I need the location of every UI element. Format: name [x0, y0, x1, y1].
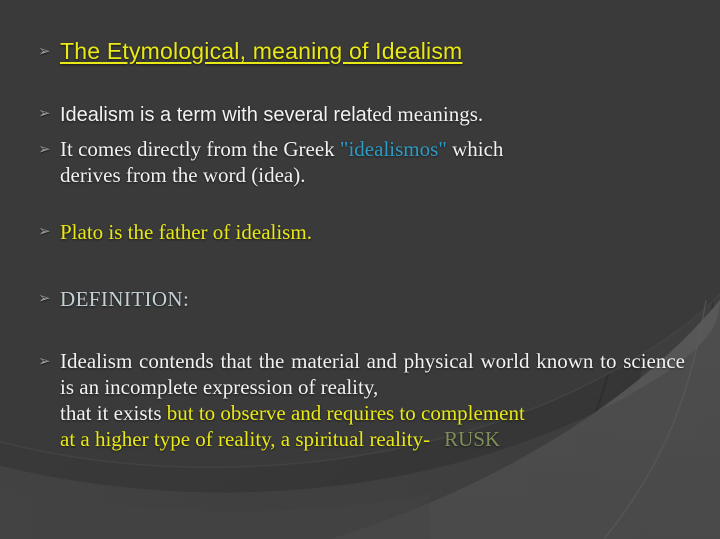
rusk-line-4-yellow: at a higher type of reality, a spiritual…	[60, 427, 430, 451]
arrow-bullet-icon: ➢	[38, 106, 60, 121]
rusk-line-3-yellow: but to observe and requires to complemen…	[167, 401, 525, 425]
page-title: The Etymological, meaning of Idealism	[60, 36, 690, 66]
bullet-definition-short: ➢ Idealism is a term with several relate…	[0, 100, 690, 129]
definition-heading: DEFINITION:	[60, 285, 690, 313]
bullet-title: ➢ The Etymological, meaning of Idealism	[0, 36, 690, 66]
bullet-text-rusk-definition: Idealism contends that the material and …	[60, 348, 685, 452]
rusk-line-1: Idealism contends that the material and …	[60, 349, 529, 373]
arrow-bullet-icon: ➢	[38, 44, 60, 59]
term-text-sans-part: Idealism is a term with several relat	[60, 104, 372, 126]
bullet-definition-heading: ➢ DEFINITION:	[0, 285, 690, 313]
greek-term: "idealismos"	[340, 137, 447, 161]
term-text-serif-part: ed meanings.	[372, 102, 483, 126]
bullet-text-plato: Plato is the father of idealism.	[60, 218, 690, 246]
slide-content-body: ➢ The Etymological, meaning of Idealism …	[0, 0, 720, 539]
arrow-bullet-icon: ➢	[38, 142, 60, 157]
arrow-bullet-icon: ➢	[38, 354, 60, 369]
rusk-attribution: RUSK	[430, 427, 500, 451]
rusk-line-4: at a higher type of reality, a spiritual…	[60, 426, 685, 452]
presentation-slide: ➢ The Etymological, meaning of Idealism …	[0, 0, 720, 539]
bullet-text-greek-origin: It comes directly from the Greek "ideali…	[60, 136, 680, 188]
bullet-greek-origin: ➢ It comes directly from the Greek "idea…	[0, 136, 680, 188]
bullet-text-term-meanings: Idealism is a term with several related …	[60, 100, 690, 129]
rusk-line-3-white: that it exists	[60, 401, 167, 425]
bullet-rusk-definition: ➢ Idealism contends that the material an…	[0, 348, 685, 452]
arrow-bullet-icon: ➢	[38, 291, 60, 306]
rusk-line-3: that it exists but to observe and requir…	[60, 400, 685, 426]
greek-origin-suffix: which	[447, 137, 504, 161]
greek-origin-prefix: It comes directly from the Greek	[60, 137, 340, 161]
arrow-bullet-icon: ➢	[38, 224, 60, 239]
bullet-plato: ➢ Plato is the father of idealism.	[0, 218, 690, 246]
greek-origin-second-line: derives from the word (idea).	[60, 162, 680, 188]
